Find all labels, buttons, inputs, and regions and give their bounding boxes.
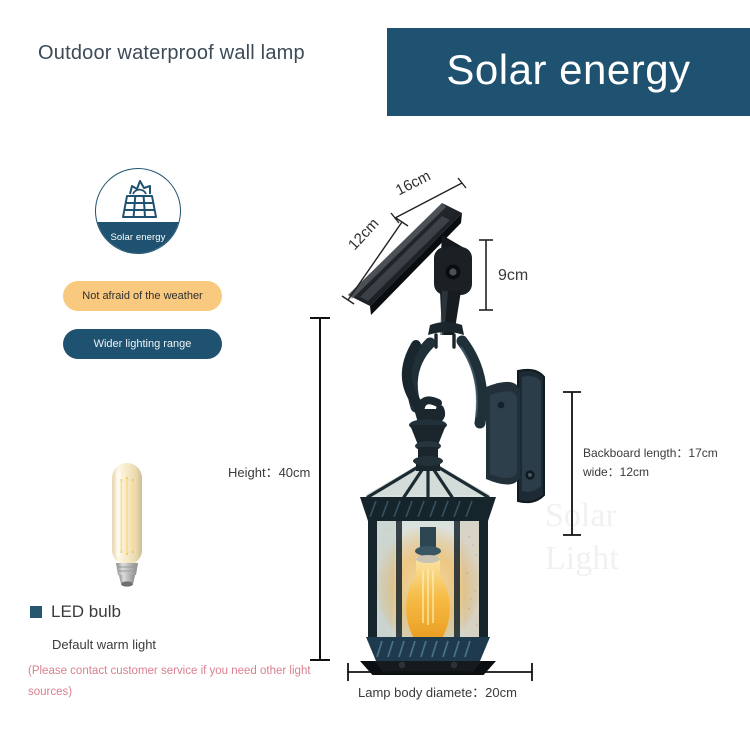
feature-pill-weather: Not afraid of the weather [63, 281, 222, 311]
solar-panel-icon [110, 177, 166, 228]
dimension-label-backboard: Backboard length：17cm wide：12cm [583, 444, 718, 481]
led-filament-bulb-image [92, 455, 162, 600]
led-bulb-title: LED bulb [51, 602, 121, 622]
square-bullet-icon [30, 606, 42, 618]
dimension-label-lamp-diameter: Lamp body diamete：20cm [358, 682, 517, 701]
page-title: Outdoor waterproof wall lamp [38, 42, 305, 65]
led-bulb-note: (Please contact customer service if you … [28, 661, 318, 704]
infographic-canvas: Solar Light Outdoor waterproof wall lamp… [0, 0, 750, 750]
feature-pill-range-label: Wider lighting range [94, 338, 192, 350]
solar-energy-banner: Solar energy [387, 28, 750, 116]
feature-pill-weather-label: Not afraid of the weather [82, 290, 202, 302]
led-bulb-heading-row: LED bulb [30, 602, 121, 622]
dimension-label-bracket-height: 9cm [498, 267, 528, 285]
solar-energy-banner-label: Solar energy [387, 28, 750, 116]
led-bulb-subtitle: Default warm light [52, 637, 156, 652]
solar-energy-badge-strip: Solar energy [96, 222, 180, 253]
solar-energy-badge: Solar energy [95, 168, 181, 254]
dimension-label-lamp-height: Height：40cm [228, 462, 310, 481]
solar-energy-badge-label: Solar energy [110, 232, 165, 243]
feature-pill-range: Wider lighting range [63, 329, 222, 359]
solar-wall-lantern-image [330, 175, 590, 675]
